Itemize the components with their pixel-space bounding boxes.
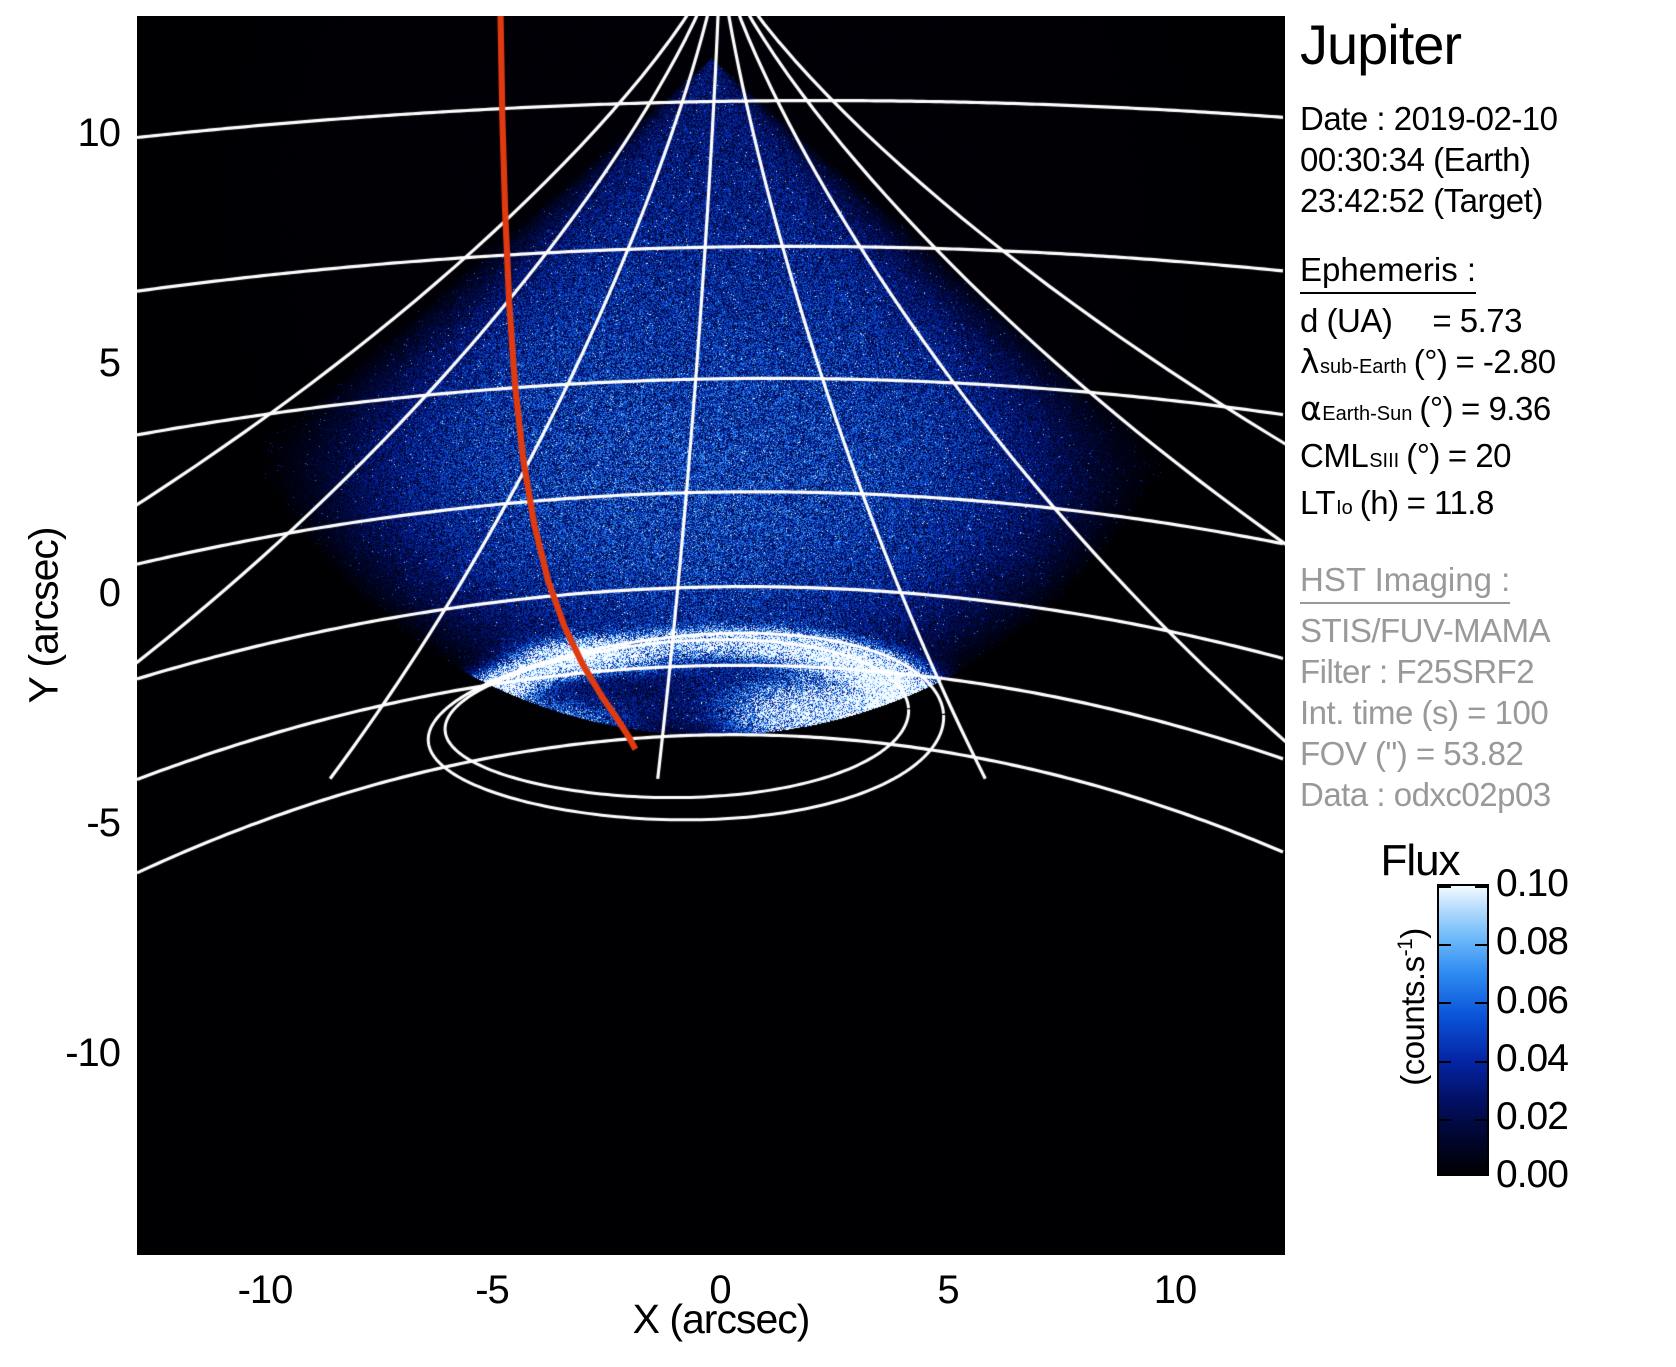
observation-info-panel: Jupiter Date : 2019-02-10 00:30:34 (Eart… — [1300, 0, 1676, 780]
ephemeris-row-sub-earth-latitude: λ sub-Earth (°) = -2.80 — [1300, 341, 1676, 388]
ephemeris-unit: (°) — [1414, 341, 1448, 382]
hst-imaging-heading: HST Imaging : — [1300, 559, 1510, 604]
y-axis-title: Y (arcsec) — [21, 466, 68, 766]
x-tick-label: -10 — [195, 1270, 335, 1310]
hst-integration-time-line: Int. time (s) = 100 — [1300, 692, 1676, 733]
page-title: Jupiter — [1300, 14, 1676, 76]
jupiter-fuv-image — [137, 16, 1285, 1255]
ephemeris-subscript: sub-Earth — [1319, 347, 1408, 388]
hst-data-id-line: Data : odxc02p03 — [1300, 774, 1676, 815]
ephemeris-key: LT — [1300, 482, 1335, 523]
ephemeris-row-phase-angle: α Earth-Sun (°) = 9.36 — [1300, 388, 1676, 435]
colorbar-axis-units: (counts.s — [1394, 956, 1431, 1085]
ephemeris-unit: (h) — [1360, 482, 1399, 523]
colorbar-axis-title: (counts.s-1) — [1394, 857, 1432, 1157]
ephemeris-row-cml: CML SIII (°) = 20 — [1300, 435, 1676, 482]
date-line: Date : 2019-02-10 — [1300, 98, 1676, 139]
colorbar-tick-label: 0.02 — [1496, 1097, 1568, 1136]
x-axis-title: X (arcsec) — [411, 1296, 1031, 1343]
ephemeris-key: d (UA) — [1300, 300, 1392, 341]
ephemeris-value: = 11.8 — [1407, 482, 1494, 523]
colorbar-tick-label: 0.04 — [1496, 1039, 1568, 1078]
ephemeris-value: = 5.73 — [1432, 300, 1522, 341]
colorbar-axis-paren: ) — [1394, 928, 1431, 939]
flux-colorbar-group: Flux (counts.s-1) 0.10 0.08 0.06 0.04 0.… — [1300, 838, 1676, 1198]
hst-imaging-block: HST Imaging : STIS/FUV-MAMA Filter : F25… — [1300, 559, 1676, 815]
ephemeris-value: = 9.36 — [1461, 388, 1551, 429]
y-tick-label: 5 — [20, 343, 120, 383]
ephemeris-key: λ — [1300, 341, 1319, 382]
hst-filter-line: Filter : F25SRF2 — [1300, 651, 1676, 692]
colorbar-tick-label: 0.08 — [1496, 922, 1568, 961]
ephemeris-subscript: Io — [1335, 488, 1354, 529]
earth-time-line: 00:30:34 (Earth) — [1300, 139, 1676, 180]
ephemeris-subscript: Earth-Sun — [1321, 394, 1413, 435]
hst-instrument-line: STIS/FUV-MAMA — [1300, 610, 1676, 651]
aurora-image-plot — [137, 16, 1285, 1255]
y-tick-label: 10 — [20, 113, 120, 153]
date-block: Date : 2019-02-10 00:30:34 (Earth) 23:42… — [1300, 98, 1676, 221]
ephemeris-key: CML — [1300, 435, 1368, 476]
colorbar-tick-label: 0.06 — [1496, 981, 1568, 1020]
ephemeris-row-io-local-time: LT Io (h) = 11.8 — [1300, 482, 1676, 529]
target-time-line: 23:42:52 (Target) — [1300, 180, 1676, 221]
ephemeris-heading: Ephemeris : — [1300, 249, 1476, 294]
ephemeris-value: = -2.80 — [1455, 341, 1555, 382]
colorbar-tick-label: 0.10 — [1496, 864, 1568, 903]
ephemeris-unit: (°) — [1406, 435, 1440, 476]
ephemeris-value: = 20 — [1448, 435, 1511, 476]
colorbar-gradient — [1437, 884, 1489, 1176]
ephemeris-key: α — [1300, 388, 1321, 429]
y-tick-label: -10 — [20, 1033, 120, 1073]
colorbar-tick-label: 0.00 — [1496, 1155, 1568, 1194]
ephemeris-row-distance: d (UA) = 5.73 — [1300, 300, 1676, 341]
ephemeris-block: Ephemeris : d (UA) = 5.73 λ sub-Earth (°… — [1300, 249, 1676, 529]
ephemeris-unit: (°) — [1419, 388, 1453, 429]
hst-fov-line: FOV (") = 53.82 — [1300, 733, 1676, 774]
x-tick-label: 10 — [1105, 1270, 1245, 1310]
y-tick-label: -5 — [20, 803, 120, 843]
ephemeris-subscript: SIII — [1368, 441, 1400, 482]
colorbar-axis-exponent: -1 — [1394, 939, 1417, 957]
